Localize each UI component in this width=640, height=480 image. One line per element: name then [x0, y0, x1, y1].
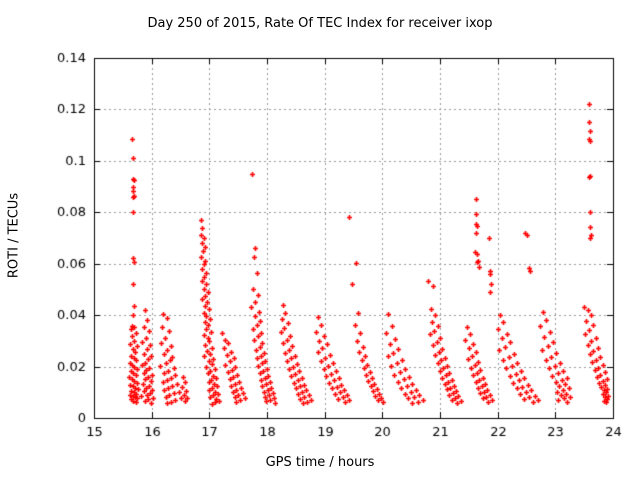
scatter-plot-canvas [0, 0, 640, 480]
chart-container: Day 250 of 2015, Rate Of TEC Index for r… [0, 0, 640, 480]
y-axis-label: ROTI / TECUs [7, 136, 22, 336]
y-axis-label-wrap: ROTI / TECUs [0, 0, 34, 480]
x-axis-label: GPS time / hours [0, 455, 640, 470]
